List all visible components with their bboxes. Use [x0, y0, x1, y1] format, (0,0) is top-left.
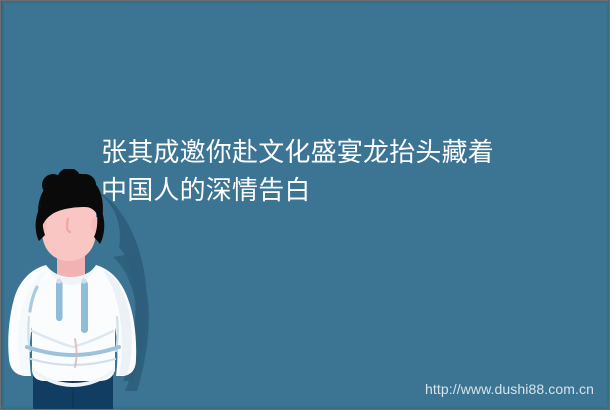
hair-bump-3	[74, 174, 96, 196]
drawstring-eyelet-right	[81, 278, 86, 283]
card-frame-top-edge	[1, 1, 609, 4]
drawstring-left	[56, 281, 63, 321]
card-frame-right-edge	[606, 1, 609, 409]
watermark-url: http://www.dushi88.com.cn	[425, 381, 594, 398]
drawstring-eyelet-left	[56, 278, 61, 283]
headline-line-2: 中国人的深情告白	[101, 171, 593, 209]
page-title: 张其成邀你赴文化盛宴龙抬头藏着 中国人的深情告白	[101, 133, 593, 209]
drawstring-right	[81, 281, 88, 333]
article-cover-card: 张其成邀你赴文化盛宴龙抬头藏着 中国人的深情告白 http://www.dush…	[0, 0, 610, 410]
headline-line-1: 张其成邀你赴文化盛宴龙抬头藏着	[101, 133, 593, 171]
